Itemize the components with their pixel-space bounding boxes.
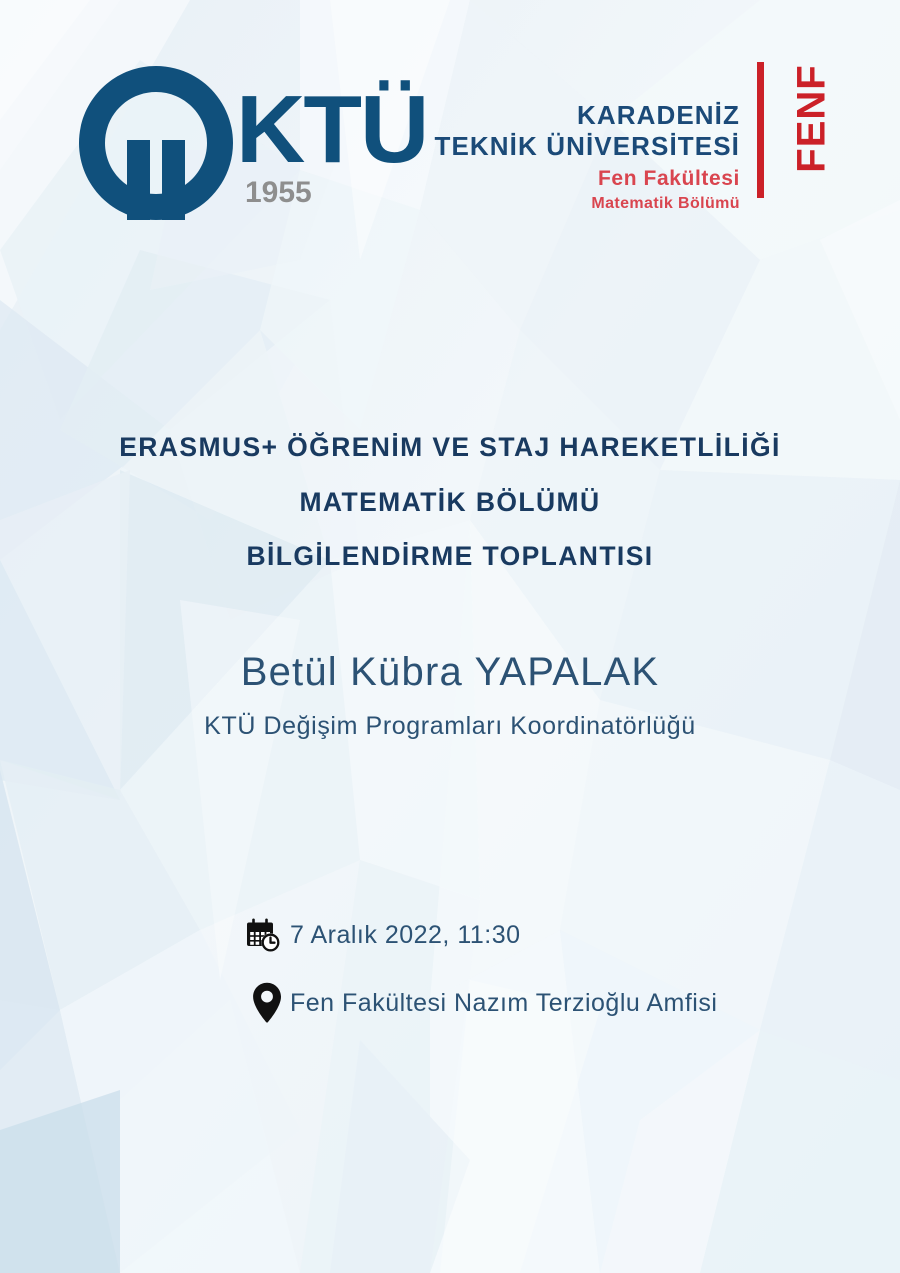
ktu-logo-icon: [75, 62, 237, 224]
fenf-label: FENF: [790, 49, 835, 189]
event-title-line-3: BİLGİLENDİRME TOPLANTISI: [0, 543, 900, 570]
event-datetime: 7 Aralık 2022, 11:30: [290, 923, 521, 948]
event-details: 7 Aralık 2022, 11:30 Fen Fakültesi Nazım…: [244, 916, 804, 1052]
detail-row-datetime: 7 Aralık 2022, 11:30: [244, 916, 804, 954]
speaker-block: Betül Kübra YAPALAK KTÜ Değişim Programl…: [0, 652, 900, 739]
poster-canvas: KTÜ 1955 KARADENİZ TEKNİK ÜNİVERSİTESİ F…: [0, 0, 900, 1273]
event-location: Fen Fakültesi Nazım Terzioğlu Amfisi: [290, 991, 717, 1016]
poster-header: KTÜ 1955 KARADENİZ TEKNİK ÜNİVERSİTESİ F…: [0, 0, 900, 250]
university-name-line1: KARADENİZ: [320, 100, 740, 131]
event-title-line-1: ERASMUS+ ÖĞRENİM VE STAJ HAREKETLİLİĞİ: [0, 434, 900, 461]
speaker-role: KTÜ Değişim Programları Koordinatörlüğü: [0, 714, 900, 739]
university-name-line2: TEKNİK ÜNİVERSİTESİ: [320, 131, 740, 162]
department-name: Matematik Bölümü: [320, 194, 740, 213]
faculty-name: Fen Fakültesi: [320, 166, 740, 191]
university-name-block: KARADENİZ TEKNİK ÜNİVERSİTESİ Fen Fakült…: [320, 100, 740, 213]
ktu-founding-year: 1955: [245, 176, 312, 210]
detail-row-location: Fen Fakültesi Nazım Terzioğlu Amfisi: [244, 982, 804, 1024]
event-title-block: ERASMUS+ ÖĞRENİM VE STAJ HAREKETLİLİĞİ M…: [0, 434, 900, 598]
speaker-name: Betül Kübra YAPALAK: [0, 652, 900, 692]
header-red-divider: [757, 62, 764, 198]
event-title-line-2: MATEMATİK BÖLÜMÜ: [0, 489, 900, 516]
map-pin-icon: [244, 982, 290, 1024]
calendar-clock-icon: [244, 916, 290, 954]
